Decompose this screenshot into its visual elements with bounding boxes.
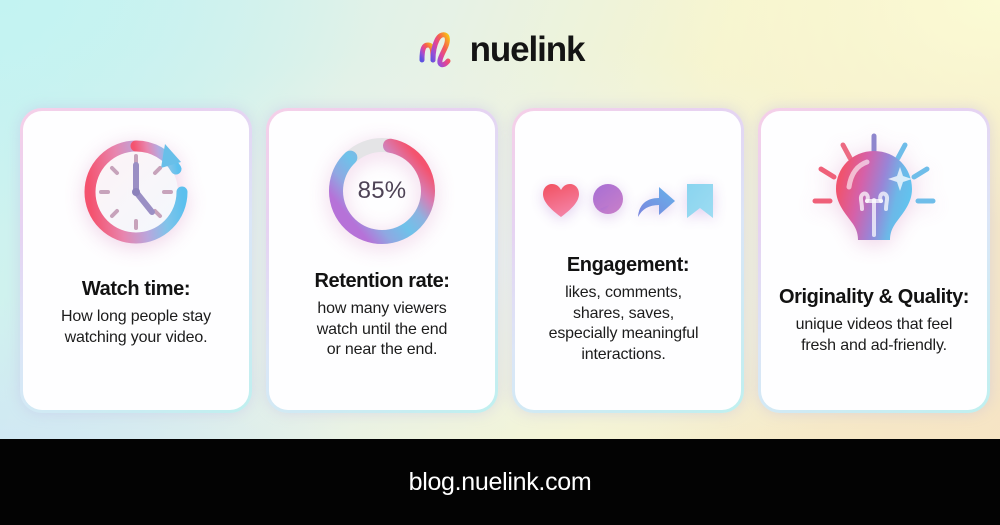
card-body: how many viewers watch until the end or … [266, 299, 498, 360]
heart-icon [542, 183, 580, 219]
brand-wordmark: nuelink [470, 30, 585, 70]
footer-bar: blog.nuelink.com [0, 439, 1000, 525]
card-body: unique videos that feel fresh and ad-fri… [758, 315, 990, 356]
clock-arrow-icon [77, 132, 195, 250]
card-title: Engagement: [567, 253, 689, 277]
engagement-icon-row [542, 183, 714, 219]
lightbulb-icon [799, 131, 949, 273]
card-body: How long people stay watching your video… [20, 307, 252, 348]
nl-monogram-icon [416, 30, 460, 70]
brand-header: nuelink [0, 0, 1000, 100]
donut-percent-label: 85% [318, 127, 446, 255]
card-title: Originality & Quality: [779, 285, 969, 309]
share-arrow-icon [636, 184, 676, 218]
card-title: Watch time: [82, 277, 190, 301]
card-engagement[interactable]: Engagement: likes, comments, shares, sav… [512, 108, 744, 413]
bookmark-icon [686, 183, 714, 219]
card-icon-area: 85% [277, 127, 487, 255]
card-title: Retention rate: [314, 269, 449, 293]
card-retention-rate[interactable]: 85% Retention rate: how many viewers wat… [266, 108, 498, 413]
card-icon-area [769, 127, 979, 277]
card-originality-quality[interactable]: Originality & Quality: unique videos tha… [758, 108, 990, 413]
metric-cards-row: Watch time: How long people stay watchin… [20, 108, 980, 413]
card-icon-area [31, 127, 241, 255]
comment-bubble-icon [590, 183, 626, 219]
card-icon-area [523, 127, 733, 227]
card-watch-time[interactable]: Watch time: How long people stay watchin… [20, 108, 252, 413]
footer-url[interactable]: blog.nuelink.com [409, 468, 592, 497]
card-body: likes, comments, shares, saves, especial… [499, 283, 749, 365]
donut-progress-icon: 85% [318, 127, 446, 255]
